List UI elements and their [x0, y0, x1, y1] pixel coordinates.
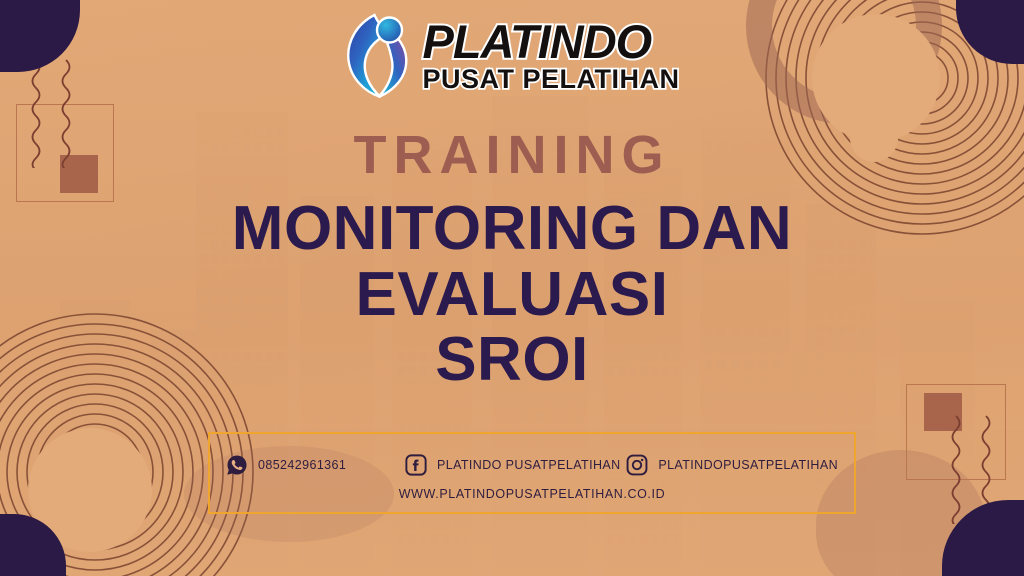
eyebrow-heading: TRAINING	[0, 124, 1024, 186]
training-banner: PLATINDO PUSAT PELATIHAN TRAINING MONITO…	[0, 0, 1024, 576]
website-url[interactable]: WWW.PLATINDOPUSATPELATIHAN.CO.ID	[210, 485, 854, 501]
contact-row-social: 085242961361 PLATINDO PUSATPELATIHAN PLA…	[210, 445, 854, 485]
page-title-line-1: MONITORING DAN	[0, 196, 1024, 262]
page-title: MONITORING DAN EVALUASI SROI	[0, 196, 1024, 393]
brand-logo: PLATINDO PUSAT PELATIHAN	[345, 12, 680, 100]
contact-facebook[interactable]: PLATINDO PUSATPELATIHAN	[405, 454, 626, 476]
facebook-handle: PLATINDO PUSATPELATIHAN	[437, 458, 621, 472]
whatsapp-number: 085242961361	[258, 458, 346, 472]
contact-bar: 085242961361 PLATINDO PUSATPELATIHAN PLA…	[208, 432, 856, 514]
facebook-icon	[405, 454, 427, 476]
contact-whatsapp[interactable]: 085242961361	[226, 454, 405, 476]
platindo-swoosh-icon	[345, 12, 413, 100]
contact-instagram[interactable]: PLATINDOPUSATPELATIHAN	[626, 454, 838, 476]
logo-tagline: PUSAT PELATIHAN	[423, 66, 680, 93]
whatsapp-icon	[226, 454, 248, 476]
instagram-handle: PLATINDOPUSATPELATIHAN	[658, 458, 838, 472]
logo-wordmark: PLATINDO	[423, 19, 680, 65]
page-title-line-2: EVALUASI	[0, 262, 1024, 328]
page-title-line-3: SROI	[0, 327, 1024, 393]
instagram-icon	[626, 454, 648, 476]
logo-wordmark-text: PLATINDO	[423, 15, 652, 68]
